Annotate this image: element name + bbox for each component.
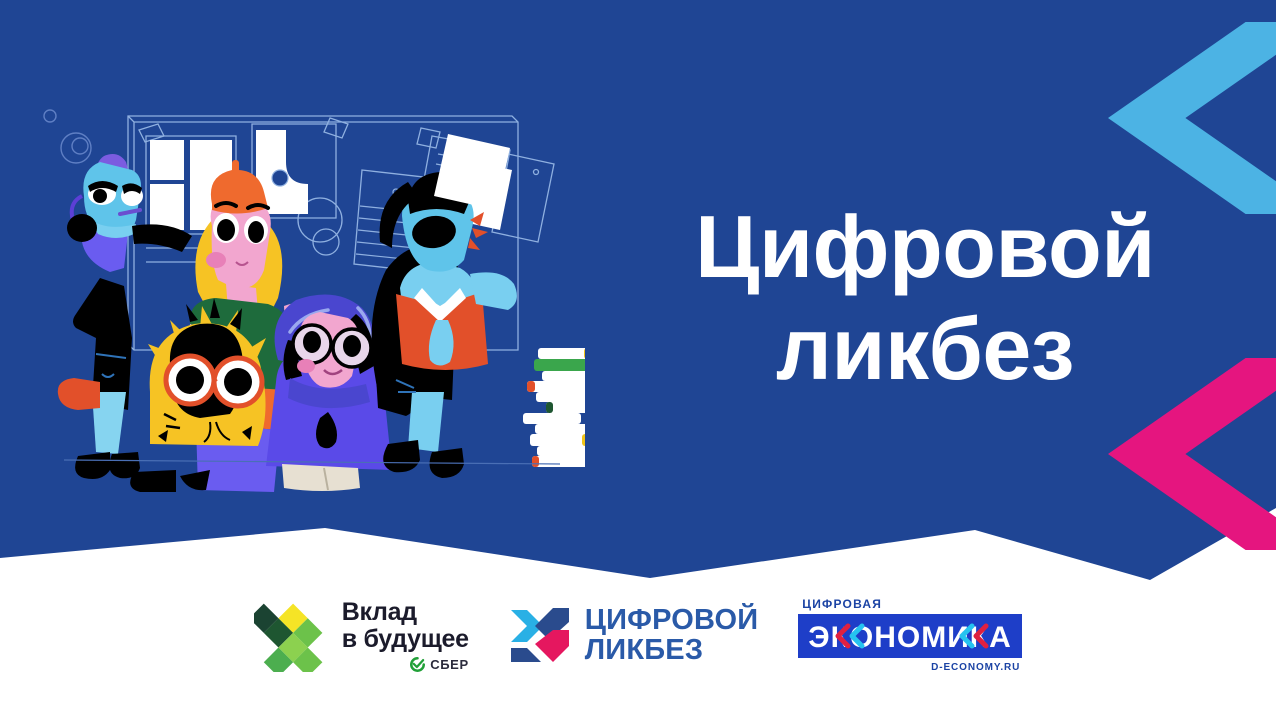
economy-top-label: ЦИФРОВАЯ — [798, 597, 1022, 611]
likbez-line-1: ЦИФРОВОЙ — [585, 604, 759, 636]
vklad-title-line-2: в будущее — [342, 625, 469, 653]
economy-wordmark: ЭКОНОМИКА — [800, 616, 1020, 656]
sber-byline: СБЕР — [410, 657, 468, 672]
page-title-line-1: Цифровой — [695, 197, 1155, 296]
vklad-title-line-1: Вклад — [342, 598, 417, 626]
economy-bar: ЭКОНОМИКА — [798, 614, 1022, 658]
page-title: Цифровой ликбез — [660, 196, 1190, 400]
page-title-line-2: ликбез — [660, 298, 1190, 400]
logo-tsifrovaya-ekonomika[interactable]: ЦИФРОВАЯ ЭКОНОМИКА D-ECONOMY.RU — [798, 597, 1022, 673]
partner-logos-strip: Вклад в будущее СБЕР — [0, 585, 1276, 685]
characters-illustration — [40, 92, 585, 492]
slide-canvas: Цифровой ликбез — [0, 0, 1276, 715]
vklad-diamond-icon — [254, 598, 328, 672]
likbez-chevron-icon — [509, 606, 571, 664]
sber-icon — [410, 657, 425, 672]
logo-tsifrovoy-likbez[interactable]: ЦИФРОВОЙ ЛИКБЕЗ — [509, 605, 759, 665]
sber-label: СБЕР — [430, 657, 468, 672]
likbez-wordmark: ЦИФРОВОЙ ЛИКБЕЗ — [585, 605, 759, 665]
logo-vklad-v-budushchee[interactable]: Вклад в будущее СБЕР — [254, 598, 469, 672]
economy-url: D-ECONOMY.RU — [798, 662, 1022, 673]
likbez-line-2: ЛИКБЕЗ — [585, 635, 759, 665]
